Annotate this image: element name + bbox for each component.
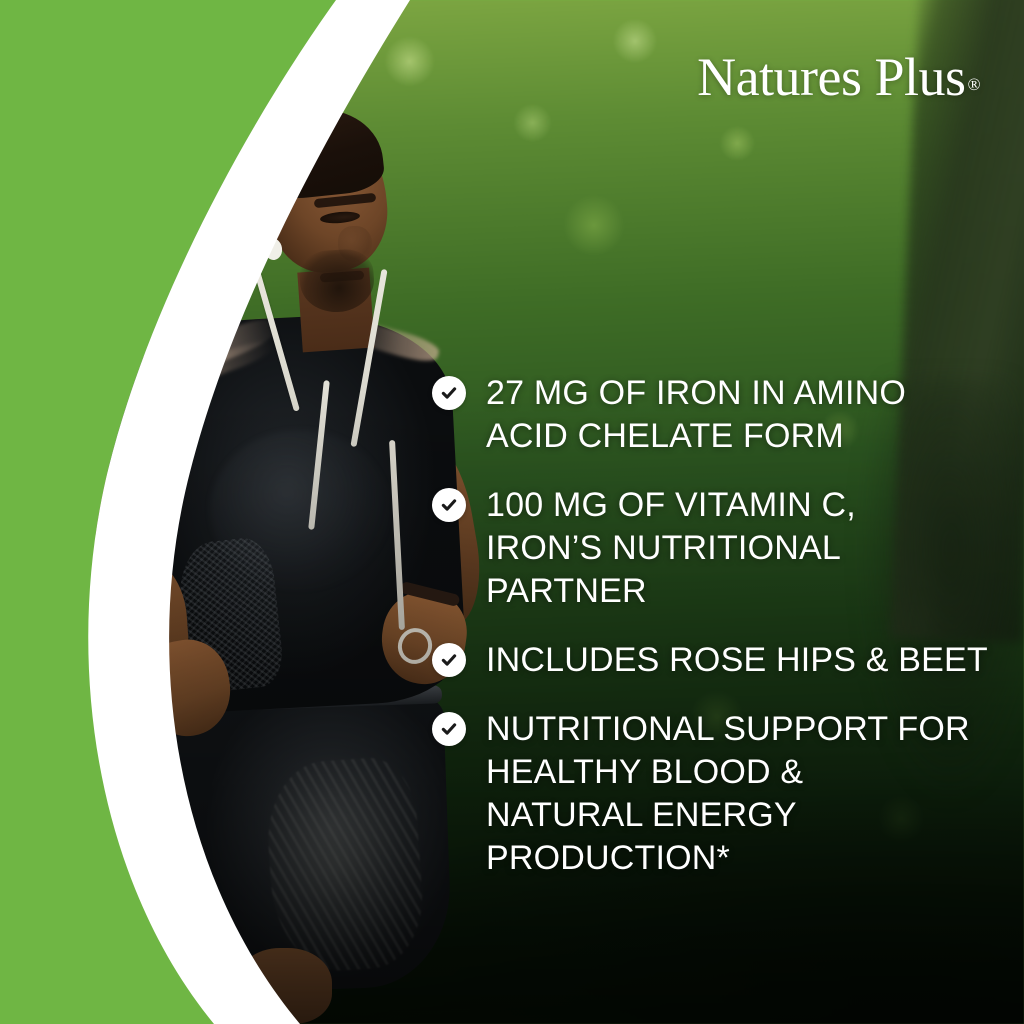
brand-logo: Natures Plus® [697,50,980,104]
benefit-text: NUTRITIONAL SUPPORT FOR HEALTHY BLOOD & … [486,708,970,880]
benefit-item: 100 MG OF VITAMIN C, IRON’S NUTRITIONAL … [432,484,992,613]
benefit-text: INCLUDES ROSE HIPS & BEET [486,639,988,682]
registered-trademark-icon: ® [968,75,980,94]
benefit-item: NUTRITIONAL SUPPORT FOR HEALTHY BLOOD & … [432,708,992,880]
check-circle-icon [432,488,466,522]
check-circle-icon [432,376,466,410]
benefit-text: 27 MG OF IRON IN AMINO ACID CHELATE FORM [486,372,906,458]
check-circle-icon [432,712,466,746]
promo-poster: Natures Plus® 27 MG OF IRON IN AMINO ACI… [0,0,1024,1024]
benefit-text: 100 MG OF VITAMIN C, IRON’S NUTRITIONAL … [486,484,856,613]
check-circle-icon [432,643,466,677]
benefit-list: 27 MG OF IRON IN AMINO ACID CHELATE FORM… [432,372,992,880]
brand-logo-text: Natures Plus [697,47,965,107]
benefit-item: 27 MG OF IRON IN AMINO ACID CHELATE FORM [432,372,992,458]
benefit-item: INCLUDES ROSE HIPS & BEET [432,639,992,682]
